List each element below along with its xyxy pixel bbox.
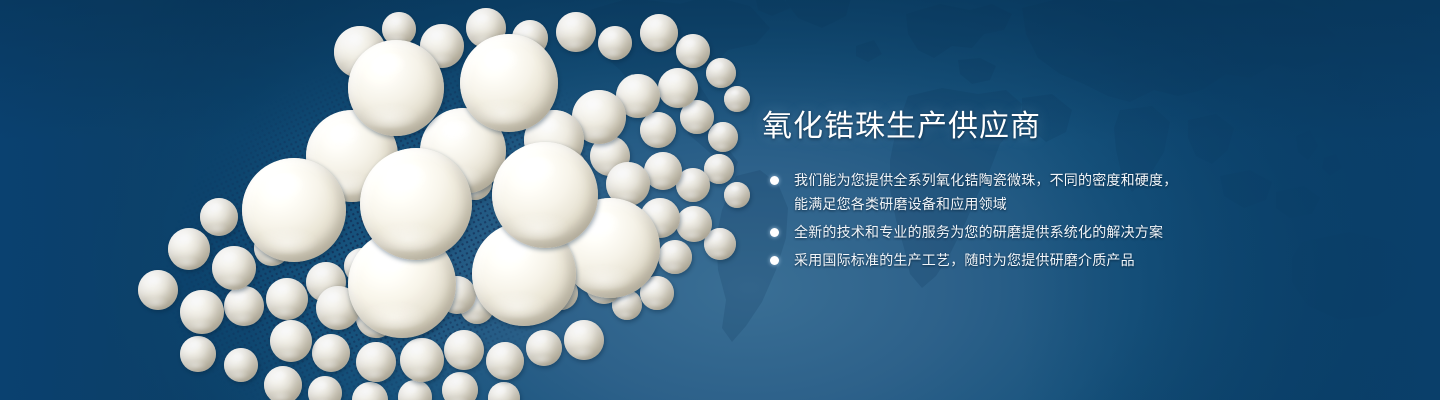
bullet-item: 采用国际标准的生产工艺，随时为您提供研磨介质产品: [768, 248, 1208, 272]
bullet-text-line: 采用国际标准的生产工艺，随时为您提供研磨介质产品: [794, 248, 1208, 272]
hero-banner: 氧化锆珠生产供应商 我们能为您提供全系列氧化锆陶瓷微珠，不同的密度和硬度，能满足…: [0, 0, 1440, 400]
bullet-dot-icon: [770, 228, 779, 237]
bullet-item: 全新的技术和专业的服务为您的研磨提供系统化的解决方案: [768, 220, 1208, 244]
bullet-text-line: 我们能为您提供全系列氧化锆陶瓷微珠，不同的密度和硬度，: [794, 168, 1208, 192]
background-top-shade: [0, 0, 1440, 140]
banner-bullet-list: 我们能为您提供全系列氧化锆陶瓷微珠，不同的密度和硬度，能满足您各类研磨设备和应用…: [768, 168, 1208, 276]
bullet-item: 我们能为您提供全系列氧化锆陶瓷微珠，不同的密度和硬度，能满足您各类研磨设备和应用…: [768, 168, 1208, 216]
bullet-dot-icon: [770, 176, 779, 185]
bullet-text-line: 全新的技术和专业的服务为您的研磨提供系统化的解决方案: [794, 220, 1208, 244]
bullet-text-line: 能满足您各类研磨设备和应用领域: [794, 192, 1208, 216]
banner-content: 氧化锆珠生产供应商 我们能为您提供全系列氧化锆陶瓷微珠，不同的密度和硬度，能满足…: [762, 0, 1222, 400]
banner-headline: 氧化锆珠生产供应商: [762, 110, 1041, 144]
bullet-dot-icon: [770, 256, 779, 265]
